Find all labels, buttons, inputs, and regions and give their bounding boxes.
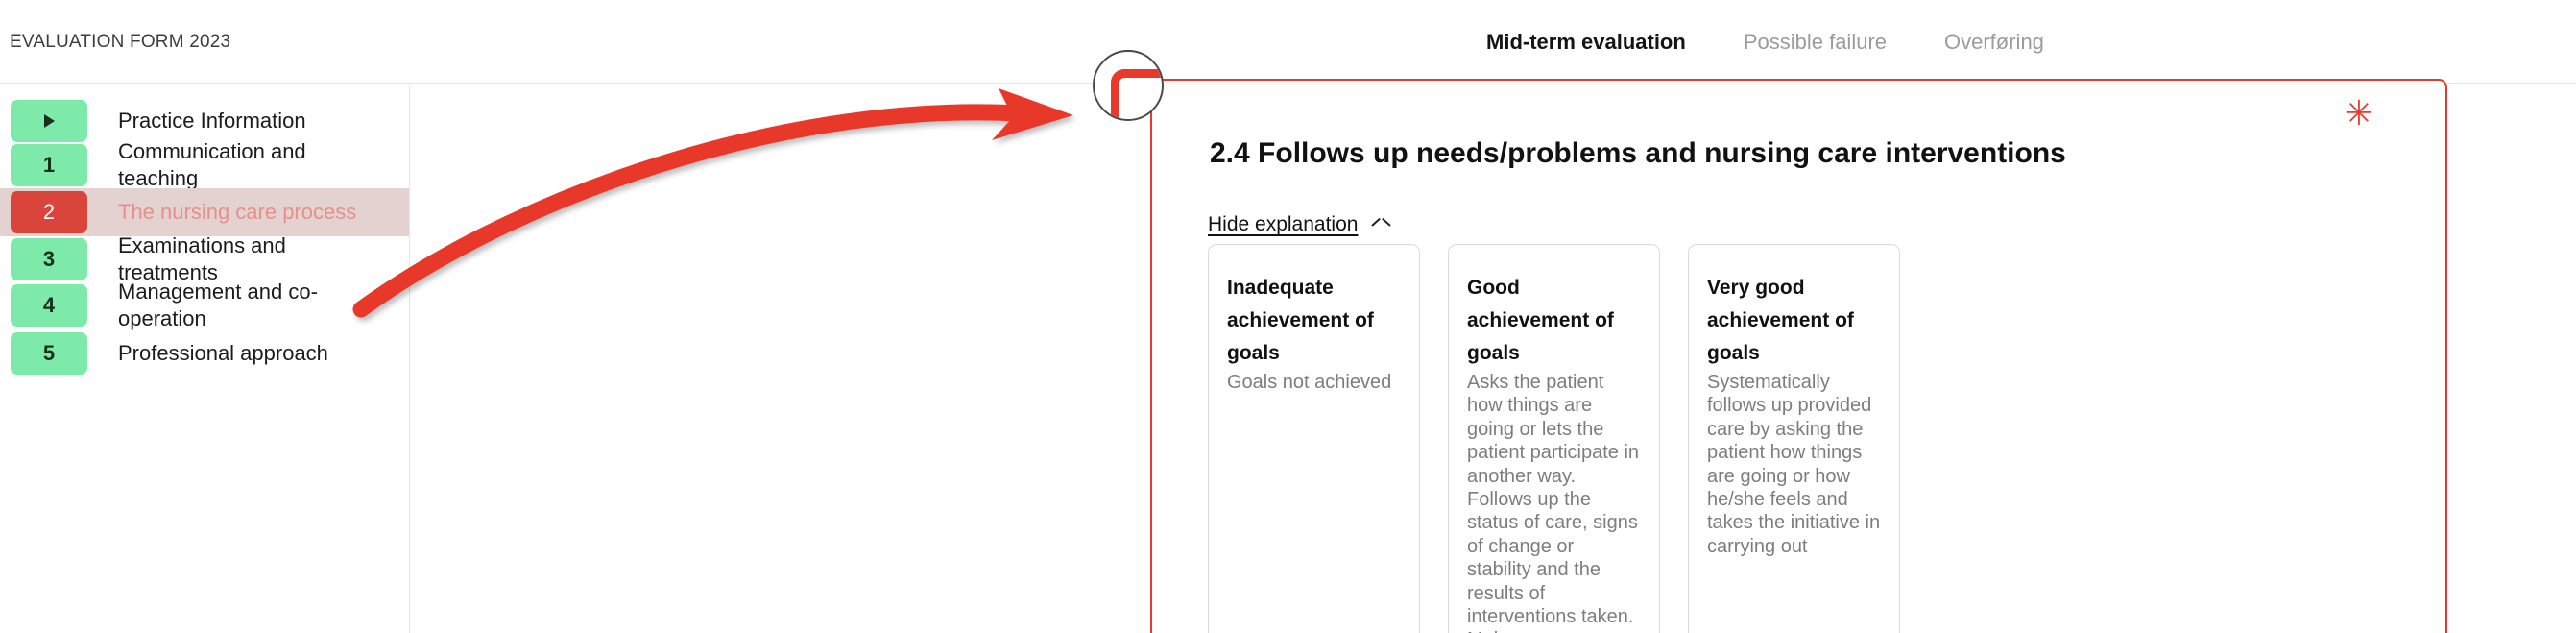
- sidebar-badge: 4: [11, 284, 87, 327]
- tab-label: Possible failure: [1744, 30, 1887, 55]
- magnified-panel-corner: [1111, 69, 1164, 121]
- question-title: 2.4 Follows up needs/problems and nursin…: [1210, 134, 2074, 173]
- app-root: EVALUATION FORM 2023 Mid-term evaluation…: [0, 0, 2576, 633]
- app-header: EVALUATION FORM 2023 Mid-term evaluation…: [0, 0, 2576, 84]
- card-body: Goals not achieved: [1227, 371, 1401, 394]
- achievement-card-inadequate[interactable]: Inadequate achievement of goals Goals no…: [1208, 244, 1420, 633]
- chevron-up-icon: [1373, 220, 1389, 231]
- sidebar-item-label: Communication and teaching: [118, 138, 377, 192]
- sidebar-badge: 2: [11, 191, 87, 233]
- sidebar-item-the-nursing-care-process[interactable]: 2 The nursing care process: [0, 188, 409, 236]
- sidebar-badge: 3: [11, 238, 87, 280]
- question-panel: ✳ 2.4 Follows up needs/problems and nurs…: [1150, 79, 2447, 633]
- red-arrow-annotation: [361, 88, 1073, 309]
- play-triangle-icon: [44, 114, 55, 128]
- sidebar-item-practice-information[interactable]: Practice Information: [0, 100, 409, 142]
- sidebar-item-professional-approach[interactable]: 5 Professional approach: [0, 330, 409, 377]
- achievement-card-very-good[interactable]: Very good achievement of goals Systemati…: [1688, 244, 1900, 633]
- sidebar-badge: [11, 100, 87, 142]
- sidebar-item-label: Management and co-operation: [118, 279, 377, 332]
- card-title: Inadequate achievement of goals: [1227, 272, 1401, 370]
- achievement-card-list: Inadequate achievement of goals Goals no…: [1208, 244, 1900, 633]
- sidebar-item-management-and-co-operation[interactable]: 4 Management and co-operation: [0, 282, 409, 329]
- sidebar-item-label: Professional approach: [118, 340, 328, 367]
- achievement-card-good[interactable]: Good achievement of goals Asks the patie…: [1448, 244, 1660, 633]
- card-body: Asks the patient how things are going or…: [1467, 371, 1641, 633]
- card-body: Systematically follows up provided care …: [1707, 371, 1881, 558]
- tab-label: Overføring: [1944, 30, 2044, 55]
- sidebar-item-communication-and-teaching[interactable]: 1 Communication and teaching: [0, 142, 409, 188]
- card-title: Good achievement of goals: [1467, 272, 1641, 370]
- sidebar: Practice Information 1 Communication and…: [0, 85, 410, 633]
- page-title: EVALUATION FORM 2023: [10, 32, 230, 53]
- tab-label: Mid-term evaluation: [1486, 30, 1686, 55]
- hide-explanation-toggle[interactable]: Hide explanation: [1208, 213, 1389, 236]
- tab-bar: Mid-term evaluation Possible failure Ove…: [1486, 0, 2073, 84]
- sidebar-item-label: The nursing care process: [118, 199, 356, 226]
- tab-overforing[interactable]: Overføring: [1915, 0, 2073, 84]
- required-asterisk-icon: ✳: [2345, 96, 2373, 131]
- card-title: Very good achievement of goals: [1707, 272, 1881, 370]
- tab-possible-failure[interactable]: Possible failure: [1715, 0, 1915, 84]
- magnifier-callout: [1093, 50, 1164, 121]
- sidebar-item-examinations-and-treatments[interactable]: 3 Examinations and treatments: [0, 236, 409, 282]
- hide-explanation-label: Hide explanation: [1208, 213, 1358, 236]
- sidebar-badge: 5: [11, 332, 87, 375]
- sidebar-badge: 1: [11, 144, 87, 186]
- tab-mid-term-evaluation[interactable]: Mid-term evaluation: [1486, 0, 1715, 84]
- sidebar-item-label: Practice Information: [118, 108, 306, 134]
